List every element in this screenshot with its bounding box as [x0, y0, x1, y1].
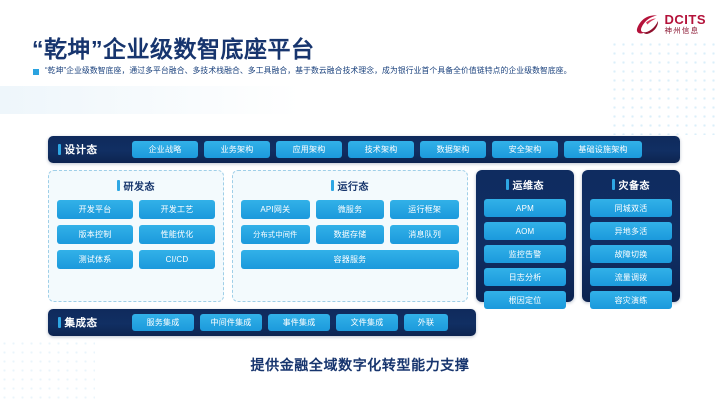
accent-tick-icon	[612, 179, 615, 190]
runtime-panel-items: API网关 微服务 运行框架 分布式中间件 数据存储 消息队列 容器服务	[241, 200, 459, 269]
dev-panel: 研发态 开发平台 开发工艺 版本控制 性能优化 测试体系 CI/CD	[48, 170, 224, 302]
integration-layer-band: 集成态 服务集成 中间件集成 事件集成 文件集成 外联	[48, 309, 476, 336]
dev-panel-header: 研发态	[57, 178, 215, 193]
architecture-diagram: 设计态 企业战略 业务架构 应用架构 技术架构 数据架构 安全架构 基础设施架构…	[48, 136, 680, 344]
integration-chip-service-integration[interactable]: 服务集成	[132, 314, 194, 331]
dr-tile-dr-drill[interactable]: 容灾演练	[590, 291, 672, 309]
dr-panel-header: 灾备态	[590, 177, 672, 192]
integration-chip-external-connection[interactable]: 外联	[404, 314, 448, 331]
dev-tile-test-system[interactable]: 测试体系	[57, 250, 133, 269]
design-chip-enterprise-strategy[interactable]: 企业战略	[132, 141, 198, 158]
runtime-panel-header: 运行态	[241, 178, 459, 193]
ops-tile-aom[interactable]: AOM	[484, 222, 566, 240]
design-layer-chips: 企业战略 业务架构 应用架构 技术架构 数据架构 安全架构 基础设施架构	[132, 141, 642, 158]
design-chip-technical-architecture[interactable]: 技术架构	[348, 141, 414, 158]
dev-tile-dev-process[interactable]: 开发工艺	[139, 200, 215, 219]
ops-panel-items: APM AOM 监控告警 日志分析 根因定位	[484, 199, 566, 309]
integration-chip-file-integration[interactable]: 文件集成	[336, 314, 398, 331]
design-chip-security-architecture[interactable]: 安全架构	[492, 141, 558, 158]
subtitle-row: “乾坤”企业级数智底座，通过多平台融合、多技术栈融合、多工具融合，基于数云融合技…	[33, 66, 693, 77]
dr-tile-failover[interactable]: 故障切换	[590, 245, 672, 263]
design-chip-infrastructure-architecture[interactable]: 基础设施架构	[564, 141, 642, 158]
decorative-gradient-wash	[0, 86, 300, 114]
ops-tile-apm[interactable]: APM	[484, 199, 566, 217]
runtime-tile-container-service[interactable]: 容器服务	[241, 250, 459, 269]
accent-tick-icon	[117, 180, 120, 191]
integration-layer-chips: 服务集成 中间件集成 事件集成 文件集成 外联	[132, 314, 448, 331]
design-chip-business-architecture[interactable]: 业务架构	[204, 141, 270, 158]
dr-tile-traffic-scheduling[interactable]: 流量调拨	[590, 268, 672, 286]
integration-layer-label: 集成态	[65, 315, 98, 330]
integration-layer-label-group: 集成态	[58, 315, 132, 330]
footer-caption: 提供金融全域数字化转型能力支撑	[0, 355, 720, 375]
dev-panel-label: 研发态	[124, 178, 156, 193]
dev-panel-items: 开发平台 开发工艺 版本控制 性能优化 测试体系 CI/CD	[57, 200, 215, 269]
runtime-panel-label: 运行态	[338, 178, 370, 193]
design-chip-application-architecture[interactable]: 应用架构	[276, 141, 342, 158]
page-title: “乾坤”企业级数智底座平台	[32, 30, 315, 64]
dr-tile-active-active-same-city[interactable]: 同城双活	[590, 199, 672, 217]
brand-name-en: DCITS	[665, 13, 707, 26]
design-chip-data-architecture[interactable]: 数据架构	[420, 141, 486, 158]
dev-tile-performance-optimization[interactable]: 性能优化	[139, 225, 215, 244]
decorative-dot-pattern-top-right	[610, 40, 720, 135]
runtime-tile-runtime-framework[interactable]: 运行框架	[390, 200, 459, 219]
ops-tile-monitoring-alerting[interactable]: 监控告警	[484, 245, 566, 263]
ops-tile-log-analysis[interactable]: 日志分析	[484, 268, 566, 286]
dr-panel-items: 同城双活 异地多活 故障切换 流量调拨 容灾演练	[590, 199, 672, 309]
integration-chip-middleware-integration[interactable]: 中间件集成	[200, 314, 262, 331]
brand-logo: DCITS 神州信息	[635, 12, 707, 36]
runtime-tile-api-gateway[interactable]: API网关	[241, 200, 310, 219]
accent-tick-icon	[58, 144, 61, 155]
dr-panel-label: 灾备态	[619, 177, 651, 192]
dr-tile-multi-site-active[interactable]: 异地多活	[590, 222, 672, 240]
middle-panels-row: 研发态 开发平台 开发工艺 版本控制 性能优化 测试体系 CI/CD 运行态	[48, 170, 680, 302]
accent-tick-icon	[331, 180, 334, 191]
brand-logo-text: DCITS 神州信息	[665, 13, 707, 35]
ops-panel: 运维态 APM AOM 监控告警 日志分析 根因定位	[476, 170, 574, 302]
design-layer-label-group: 设计态	[58, 142, 132, 157]
bullet-square-icon	[33, 69, 39, 75]
ops-panel-header: 运维态	[484, 177, 566, 192]
disaster-recovery-panel: 灾备态 同城双活 异地多活 故障切换 流量调拨 容灾演练	[582, 170, 680, 302]
dev-tile-dev-platform[interactable]: 开发平台	[57, 200, 133, 219]
runtime-tile-microservices[interactable]: 微服务	[316, 200, 385, 219]
integration-chip-event-integration[interactable]: 事件集成	[268, 314, 330, 331]
design-layer-label: 设计态	[65, 142, 98, 157]
brand-name-cn: 神州信息	[665, 27, 707, 35]
runtime-tile-data-storage[interactable]: 数据存储	[316, 225, 385, 244]
slide-canvas: DCITS 神州信息 “乾坤”企业级数智底座平台 “乾坤”企业级数智底座，通过多…	[0, 0, 720, 405]
runtime-tile-message-queue[interactable]: 消息队列	[390, 225, 459, 244]
dcits-swoosh-icon	[635, 12, 661, 36]
dev-tile-version-control[interactable]: 版本控制	[57, 225, 133, 244]
ops-panel-label: 运维态	[513, 177, 545, 192]
design-layer-band: 设计态 企业战略 业务架构 应用架构 技术架构 数据架构 安全架构 基础设施架构	[48, 136, 680, 163]
ops-tile-root-cause-analysis[interactable]: 根因定位	[484, 291, 566, 309]
dev-tile-cicd[interactable]: CI/CD	[139, 250, 215, 269]
accent-tick-icon	[58, 317, 61, 328]
runtime-tile-distributed-middleware[interactable]: 分布式中间件	[241, 225, 310, 244]
runtime-panel: 运行态 API网关 微服务 运行框架 分布式中间件 数据存储 消息队列 容器服务	[232, 170, 468, 302]
subtitle-text: “乾坤”企业级数智底座，通过多平台融合、多技术栈融合、多工具融合，基于数云融合技…	[45, 66, 572, 77]
accent-tick-icon	[506, 179, 509, 190]
